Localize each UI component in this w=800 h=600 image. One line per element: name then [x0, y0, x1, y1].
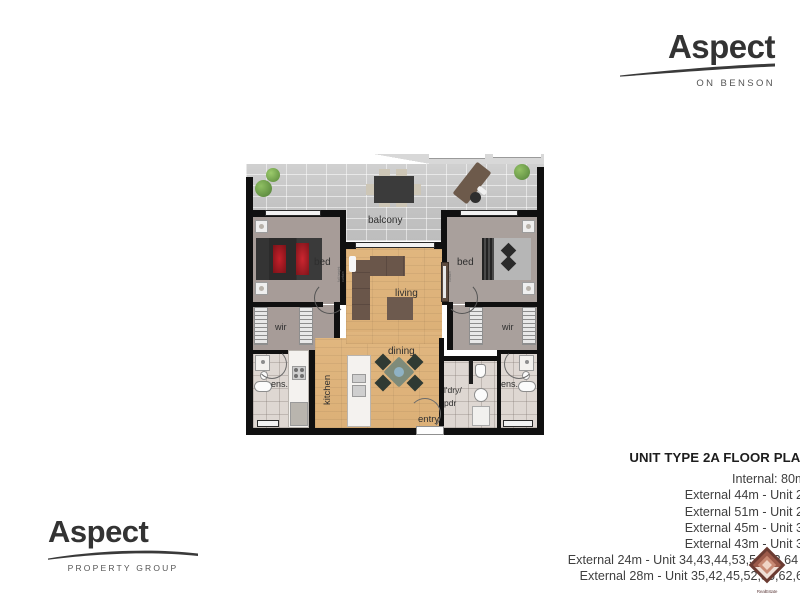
caption-line-ext-43: External 43m - Unit 33	[300, 536, 800, 552]
caption-line-internal: Internal: 80m2	[300, 468, 800, 487]
caption-line-ext-45-text: External 45m - Unit 32	[685, 521, 800, 535]
wir-right-robe-a	[469, 307, 483, 345]
swoosh-icon	[620, 63, 775, 77]
bedside-lamp-left-top	[259, 224, 264, 229]
bedside-lamp-right-top	[526, 224, 531, 229]
exterior-wall-bottom	[246, 428, 544, 435]
laundry-tub	[474, 388, 488, 402]
realestate-watermark: RealEstate	[743, 545, 791, 593]
wir-right-door-swing	[446, 282, 478, 314]
wir-left-robe-b	[299, 307, 313, 345]
room-label-bed-right: bed	[457, 258, 474, 268]
bedside-lamp-left-bottom	[259, 286, 264, 291]
planter-shrub-left-b	[266, 168, 280, 182]
caption-line-ext-28: External 28m - Unit 35,42,45,52,55,62,65	[300, 568, 800, 584]
bedroom-right-window	[460, 210, 518, 216]
room-label-kitchen: kitchen	[323, 375, 333, 405]
logo-wordmark: Aspect	[48, 516, 198, 547]
room-label-bed-left: bed	[314, 258, 331, 268]
kitchen-wall-left	[309, 350, 315, 428]
living-wall-top-right	[434, 242, 444, 249]
planter-shrub-right	[514, 164, 530, 180]
kitchen-burner-b	[300, 368, 304, 372]
bottom-window-left-a	[257, 420, 279, 427]
balcony-parapet-gap-left	[429, 152, 485, 159]
wir-right-robe-b	[522, 307, 536, 345]
laundry-partition	[469, 360, 473, 384]
room-label-ens-right: ens.	[501, 380, 518, 389]
laundry-appliance	[472, 406, 490, 426]
entry-door-leaf	[416, 426, 444, 435]
kitchen-burner-a	[294, 368, 298, 372]
room-label-ens-left: ens.	[271, 380, 288, 389]
room-label-wir-left: wir	[275, 323, 287, 332]
kitchen-burner-c	[294, 374, 298, 378]
diamond-logo-icon	[743, 545, 791, 589]
room-label-living: living	[395, 289, 418, 299]
caption-line-ext-51-text: External 51m - Unit 25	[685, 505, 800, 519]
living-sliding-door	[355, 242, 435, 248]
exterior-wall-right	[537, 167, 544, 435]
kitchen-fridge	[290, 402, 308, 426]
bedroom-left-curtain-note: full heightcurtain	[338, 267, 345, 282]
caption-line-ext-44: External 44m - Unit 24	[300, 487, 800, 503]
aspect-on-benson-logo: Aspect ON BENSON	[620, 30, 775, 89]
floor-plan-caption: UNIT TYPE 2A FLOOR PLAN Internal: 80m2 E…	[300, 450, 800, 585]
wir-left-robe-a	[254, 307, 268, 345]
balcony-chair-left	[366, 184, 374, 195]
bedside-lamp-right-bottom	[526, 286, 531, 291]
room-label-dining: dining	[388, 347, 415, 357]
bed-left-headboard	[256, 238, 269, 280]
caption-title: UNIT TYPE 2A FLOOR PLAN	[300, 450, 800, 465]
kitchen-cooktop	[352, 385, 366, 397]
kitchen-sink	[352, 374, 366, 383]
balcony-dining-table	[374, 176, 414, 203]
balcony-side-table	[470, 192, 481, 203]
caption-line-ext-24: External 24m - Unit 34,43,44,53,54,63,64…	[300, 552, 800, 568]
logo-tagline: PROPERTY GROUP	[48, 564, 198, 573]
caption-line-ext-44-text: External 44m - Unit 24	[685, 488, 800, 502]
dining-centerpiece	[394, 367, 404, 377]
floor-plan-image: balcony bed full heightcurtain bed full …	[241, 152, 549, 438]
kitchen-burner-d	[300, 374, 304, 378]
ens-right-basin	[518, 381, 536, 392]
watermark-label: RealEstate	[743, 589, 791, 594]
living-coffee-table	[387, 297, 413, 320]
caption-line-internal-text: Internal: 80m	[732, 472, 800, 486]
bedroom-left-window	[265, 210, 321, 216]
caption-line-ext-51: External 51m - Unit 25	[300, 504, 800, 520]
living-floor-lamp	[349, 256, 356, 272]
room-label-wir-right: wir	[502, 323, 514, 332]
room-label-ldry-line2: pdr	[444, 399, 456, 408]
living-sofa-horizontal	[370, 256, 405, 276]
ens-left-basin	[254, 381, 272, 392]
planter-shrub-left-a	[255, 180, 272, 197]
aspect-property-group-logo: Aspect PROPERTY GROUP	[48, 516, 198, 573]
swoosh-icon	[48, 547, 198, 561]
bed-left-pillow-a	[273, 245, 286, 273]
logo-tagline: ON BENSON	[620, 79, 775, 89]
room-label-entry: entry	[418, 415, 439, 425]
wir-left-door-swing	[314, 282, 346, 314]
balcony-parapet-gap-right	[493, 152, 541, 158]
ens-left-door-swing	[257, 349, 287, 379]
bottom-window-left-b	[503, 420, 533, 427]
bed-left-pillow-b	[296, 243, 309, 275]
ens-right-wall-left	[497, 350, 501, 428]
caption-line-ext-45: External 45m - Unit 32	[300, 520, 800, 536]
living-dining-connector	[346, 332, 442, 344]
logo-wordmark: Aspect	[620, 30, 775, 63]
bed-right-headboard	[482, 238, 494, 280]
balcony-chair-right	[413, 184, 421, 195]
powder-wc	[475, 364, 486, 378]
exterior-wall-left	[246, 177, 253, 435]
room-label-balcony: balcony	[368, 216, 402, 226]
ens-right-door-swing	[504, 349, 534, 379]
room-label-ldry-line1: l'dry/	[444, 386, 462, 395]
